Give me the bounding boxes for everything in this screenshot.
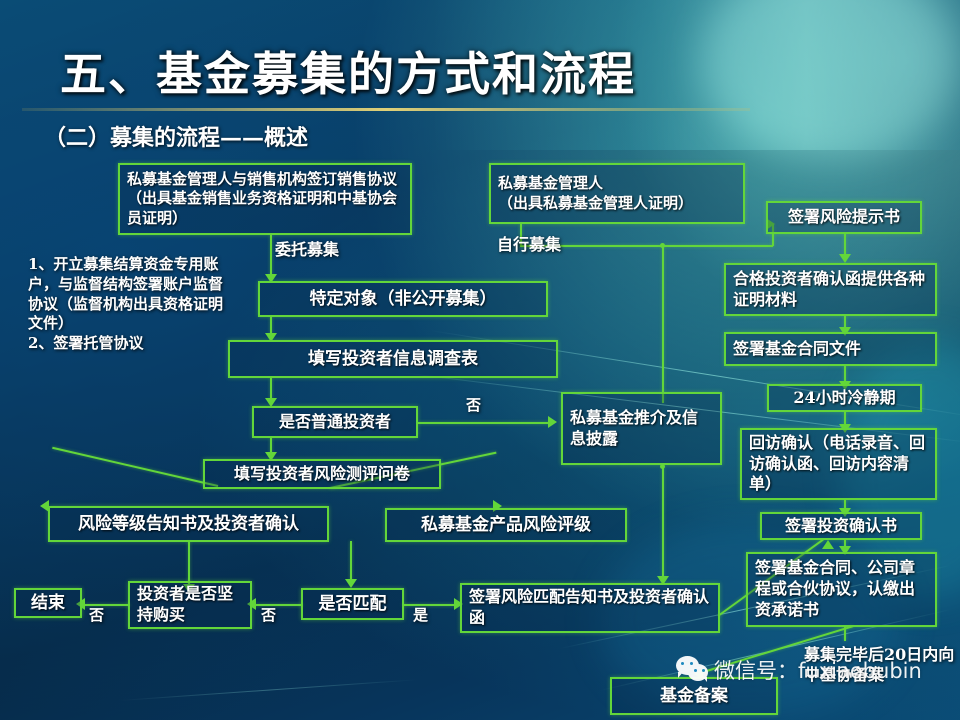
box-investor-insist[interactable]: 投资者是否坚持购买 xyxy=(128,581,252,629)
box-qualified-investor-letter[interactable]: 合格投资者确认函提供各种证明材料 xyxy=(724,263,937,316)
box-specific-object-label: 特定对象（非公开募集） xyxy=(310,288,497,310)
box-investor-survey-label: 填写投资者信息调查表 xyxy=(308,348,478,370)
label-insist-no: 否 xyxy=(89,606,104,626)
box-manager-self[interactable]: 私募基金管理人 （出具私募基金管理人证明） xyxy=(489,163,745,224)
label-ordinary-no: 否 xyxy=(466,396,481,416)
page-title: 五、基金募集的方式和流程 xyxy=(60,38,636,104)
connector-match-yes xyxy=(402,604,458,606)
connector-sales-to-specific xyxy=(270,235,272,279)
box-fund-contract-doc[interactable]: 签署基金合同文件 xyxy=(724,332,937,366)
label-match-no: 否 xyxy=(261,606,276,626)
box-cooling-period[interactable]: 24小时冷静期 xyxy=(767,384,922,412)
box-sign-contract-charter[interactable]: 签署基金合同、公司章程或合伙协议，认缴出资承诺书 xyxy=(746,552,937,627)
box-promotion-disclosure[interactable]: 私募基金推介及信息披露 xyxy=(561,392,722,465)
box-risk-disclosure-sign-label: 签署风险提示书 xyxy=(788,207,900,228)
wechat-watermark: 微信号：fuxiaobubin xyxy=(676,655,922,685)
box-risk-match-notice[interactable]: 签署风险匹配告知书及投资者确认函 xyxy=(460,583,720,633)
page-subtitle: （二）募集的流程——概述 xyxy=(44,120,308,152)
box-is-ordinary-investor-label: 是否普通投资者 xyxy=(279,412,391,433)
box-sales-agreement[interactable]: 私募基金管理人与销售机构签订销售协议（出具基金销售业务资格证明和中基协会员证明） xyxy=(118,163,412,235)
box-risk-match-notice-label: 签署风险匹配告知书及投资者确认函 xyxy=(469,587,711,629)
watermark-text: 微信号：fuxiaobubin xyxy=(714,655,922,685)
box-risk-questionnaire-label: 填写投资者风险测评问卷 xyxy=(234,464,410,485)
box-callback-confirm-label: 回访确认（电话录音、回访确认函、回访内容清单） xyxy=(749,433,928,495)
arrow-rating-to-match xyxy=(345,579,357,588)
label-self-raise: 自行募集 xyxy=(497,234,561,255)
left-notes-block: 1、开立募集结算资金专用账户，与监督结构签署账户监督协议（监督机构出具资格证明文… xyxy=(28,255,234,354)
box-fund-filing-label: 基金备案 xyxy=(660,685,728,707)
box-risk-questionnaire[interactable]: 填写投资者风险测评问卷 xyxy=(203,459,441,489)
box-risk-level-notice-label: 风险等级告知书及投资者确认 xyxy=(78,513,299,535)
box-is-match[interactable]: 是否匹配 xyxy=(301,588,404,620)
arrow-matchnotice-to-contract xyxy=(822,540,834,549)
box-is-match-label: 是否匹配 xyxy=(319,593,387,615)
box-investment-confirm-label: 签署投资确认书 xyxy=(785,516,897,537)
connector-questionnaire-left-diag xyxy=(52,447,218,487)
box-qualified-investor-letter-label: 合格投资者确认函提供各种证明材料 xyxy=(733,269,928,311)
box-product-risk-rating-label: 私募基金产品风险评级 xyxy=(421,514,591,536)
connector-rating-down xyxy=(350,541,352,583)
box-callback-confirm[interactable]: 回访确认（电话录音、回访确认函、回访内容清单） xyxy=(740,428,937,500)
connector-ordinary-no xyxy=(418,422,552,424)
arrow-ordinary-no xyxy=(548,416,557,428)
arrow-riskdisclose-to-qualified xyxy=(839,254,851,263)
slide-canvas: 五、基金募集的方式和流程 （二）募集的流程——概述 xyxy=(0,0,960,720)
connector-trunk-to-matchnotice xyxy=(662,466,664,580)
box-end-label: 结束 xyxy=(31,592,65,614)
box-end[interactable]: 结束 xyxy=(14,588,82,618)
junction-trunk-top xyxy=(660,243,665,248)
connector-trunk-right xyxy=(662,245,664,403)
box-promotion-disclosure-label: 私募基金推介及信息披露 xyxy=(570,408,713,450)
box-sales-agreement-label: 私募基金管理人与销售机构签订销售协议（出具基金销售业务资格证明和中基协会员证明） xyxy=(127,170,403,229)
box-cooling-period-label: 24小时冷静期 xyxy=(793,388,895,409)
background-glow-1 xyxy=(700,0,960,160)
box-risk-level-notice[interactable]: 风险等级告知书及投资者确认 xyxy=(48,506,329,542)
box-manager-self-label: 私募基金管理人 （出具私募基金管理人证明） xyxy=(498,174,693,213)
box-investor-survey[interactable]: 填写投资者信息调查表 xyxy=(228,340,558,378)
label-match-yes: 是 xyxy=(413,606,428,626)
box-fund-contract-doc-label: 签署基金合同文件 xyxy=(733,339,861,360)
box-is-ordinary-investor[interactable]: 是否普通投资者 xyxy=(252,406,418,438)
wechat-icon xyxy=(676,656,710,684)
background-streak-5 xyxy=(120,679,419,701)
box-specific-object[interactable]: 特定对象（非公开募集） xyxy=(258,281,548,317)
label-entrusted-raise: 委托募集 xyxy=(275,239,339,260)
box-sign-contract-charter-label: 签署基金合同、公司章程或合伙协议，认缴出资承诺书 xyxy=(755,558,928,620)
box-product-risk-rating[interactable]: 私募基金产品风险评级 xyxy=(385,508,627,542)
box-investment-confirm[interactable]: 签署投资确认书 xyxy=(760,512,922,540)
title-divider xyxy=(22,108,750,111)
box-investor-insist-label: 投资者是否坚持购买 xyxy=(137,584,243,626)
box-risk-disclosure-sign[interactable]: 签署风险提示书 xyxy=(766,201,922,234)
